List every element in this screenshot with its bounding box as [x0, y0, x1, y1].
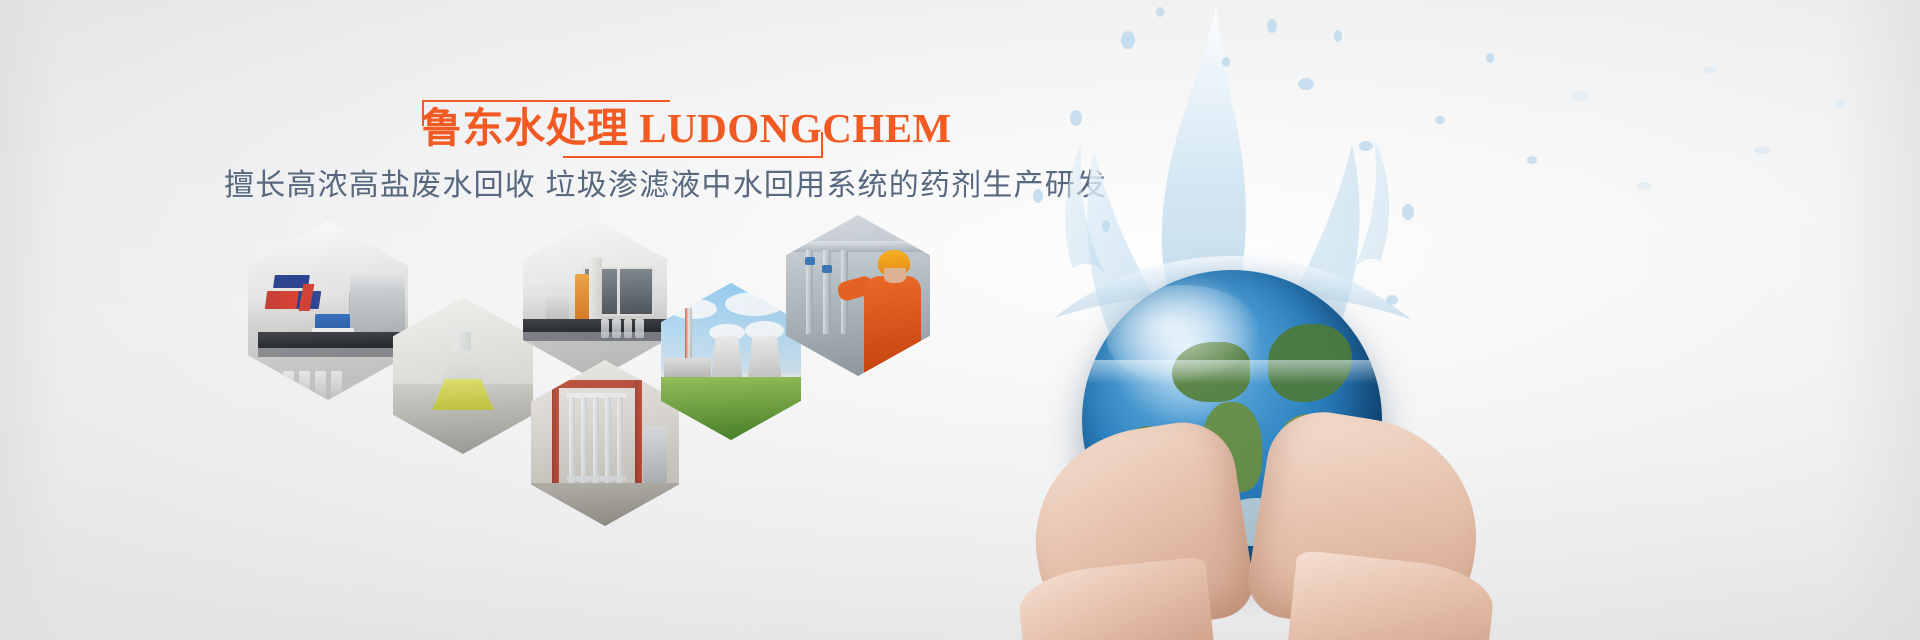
- banner-stage: 鲁东水处理 LUDONGCHEM 擅长高浓高盐废水回收 垃圾渗滤液中水回用系统的…: [0, 0, 1920, 640]
- hex-tile-worker[interactable]: [786, 215, 930, 376]
- hex-tile-power-plant[interactable]: [661, 283, 801, 440]
- hex-tile-flask[interactable]: [393, 297, 533, 454]
- hex-tile-pipe-plant[interactable]: [531, 360, 679, 526]
- hex-gallery: [0, 0, 1000, 640]
- hex-tile-lab-glassware[interactable]: [523, 219, 667, 380]
- hex-tile-lab-room[interactable]: [248, 221, 408, 400]
- earth-in-hands-artwork: [1020, 0, 1920, 640]
